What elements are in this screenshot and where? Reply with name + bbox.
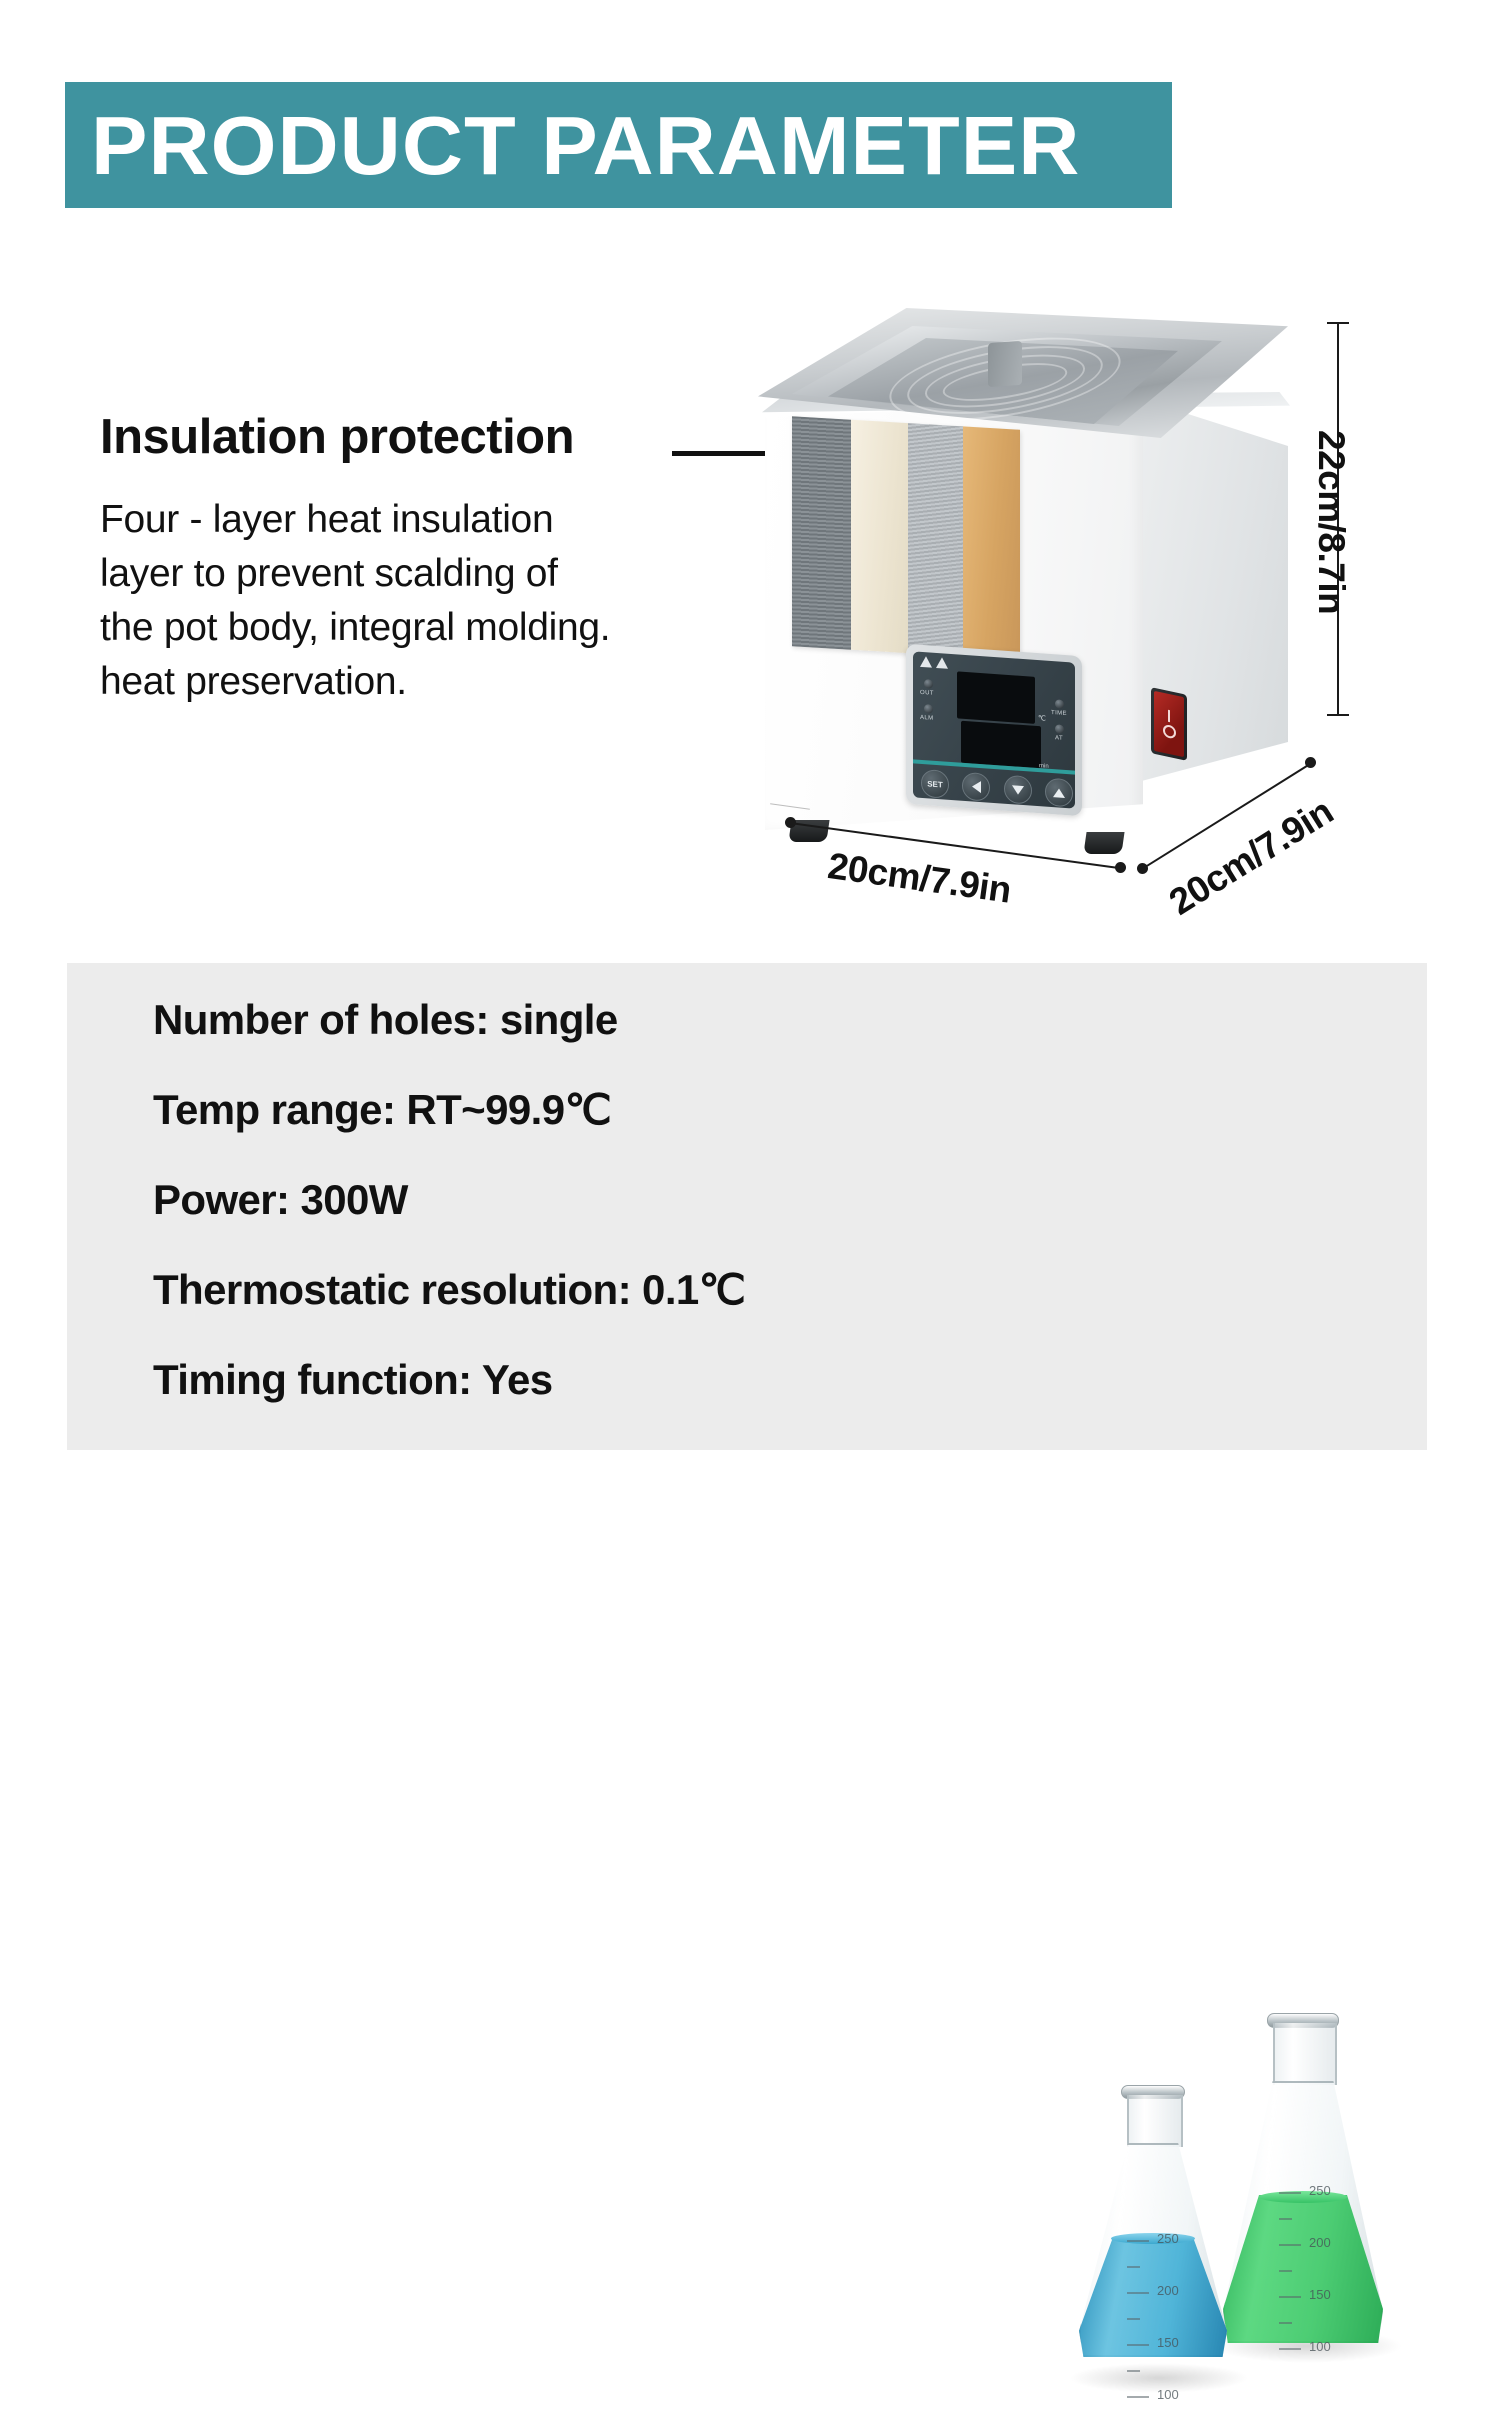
spec-item-resolution: Thermostatic resolution: 0.1℃ [153, 1269, 973, 1311]
callout-line-2: layer to prevent scalding of [100, 547, 760, 601]
callout-line-1: Four - layer heat insulation [100, 493, 760, 547]
out-led-indicator [924, 679, 933, 689]
time-led-indicator [1055, 699, 1064, 709]
graduation-tick [1127, 2370, 1140, 2372]
power-switch[interactable] [1151, 687, 1187, 761]
graduation-tick [1279, 2270, 1292, 2272]
arrow-up-icon [1053, 788, 1065, 798]
specifications-panel: Number of holes: single Temp range: RT~9… [67, 963, 1427, 1450]
height-dimension-label: 22cm/8.7in [1310, 430, 1352, 614]
insulation-callout: Insulation protection Four - layer heat … [100, 412, 760, 709]
temperature-display [957, 671, 1035, 723]
graduation-tick [1127, 2396, 1149, 2398]
graduation-label: 150 [1157, 2335, 1179, 2350]
page-title: PRODUCT PARAMETER [91, 104, 1080, 187]
flask-liquid-surface [1259, 2191, 1347, 2203]
flask-illustration: 250 200 150 100 250 200 150 10 [1067, 1993, 1407, 2393]
control-panel-face: OUT ALM TIME AT ℃ min SET WATER BATH [913, 651, 1075, 808]
panel-button-row: SET [921, 769, 1073, 808]
callout-heading: Insulation protection [100, 412, 760, 463]
depth-dimension-dot-end [1305, 757, 1316, 768]
left-arrow-button[interactable] [962, 772, 990, 802]
graduation-tick [1279, 2192, 1301, 2194]
green-flask: 250 200 150 100 [1217, 2009, 1389, 2369]
graduation-label: 250 [1309, 2183, 1331, 2198]
specifications-list: Number of holes: single Temp range: RT~9… [153, 999, 973, 1449]
power-on-mark-icon [1168, 710, 1170, 722]
graduation-tick [1127, 2344, 1149, 2346]
insulation-layer-2 [851, 420, 908, 653]
time-led-label: TIME [1051, 710, 1067, 717]
arrow-left-icon [972, 780, 981, 793]
warning-triangle-icon [920, 656, 932, 668]
graduation-tick [1127, 2240, 1149, 2242]
control-panel[interactable]: OUT ALM TIME AT ℃ min SET WATER BATH [906, 644, 1082, 816]
flask-liquid-surface [1111, 2233, 1195, 2244]
power-off-mark-icon [1163, 724, 1176, 740]
alm-led-label: ALM [920, 715, 934, 722]
graduation-tick [1127, 2292, 1149, 2294]
graduation-label: 250 [1157, 2231, 1179, 2246]
graduation-tick [1279, 2322, 1292, 2324]
spec-item-power: Power: 300W [153, 1179, 973, 1221]
warning-triangle-icon [936, 657, 948, 669]
height-dimension-cap-bottom [1327, 714, 1349, 716]
flask-neck [1127, 2095, 1183, 2147]
warning-icons [920, 656, 948, 669]
insulation-layer-4 [963, 426, 1020, 659]
graduation-tick [1127, 2266, 1140, 2268]
insulation-layer-3 [908, 423, 963, 656]
spec-item-temp-range: Temp range: RT~99.9℃ [153, 1089, 973, 1131]
blue-flask: 250 200 150 100 [1075, 2081, 1235, 2381]
graduation-tick [1279, 2296, 1301, 2298]
timer-display [961, 721, 1041, 769]
header-banner: PRODUCT PARAMETER [65, 82, 1172, 208]
lid-knob [988, 341, 1022, 387]
graduation-tick [1279, 2244, 1301, 2246]
depth-dimension-dot-start [1137, 863, 1148, 874]
callout-line-3: the pot body, integral molding. [100, 601, 760, 655]
set-button[interactable]: SET [921, 769, 949, 799]
width-dimension-dot-end [1115, 862, 1126, 873]
flask-neck [1273, 2023, 1337, 2085]
graduation-label: 200 [1309, 2235, 1331, 2250]
graduation-label: 100 [1309, 2339, 1331, 2354]
callout-line-4: heat preservation. [100, 655, 760, 709]
graduation-tick [1279, 2348, 1301, 2350]
out-led-label: OUT [920, 690, 934, 697]
height-dimension-cap-top [1327, 322, 1349, 324]
alm-led-indicator [924, 704, 933, 714]
graduation-tick [1127, 2318, 1140, 2320]
width-dimension-dot-start [785, 817, 796, 828]
product-image: OUT ALM TIME AT ℃ min SET WATER BATH [740, 280, 1360, 900]
spec-item-timing: Timing function: Yes [153, 1359, 973, 1401]
at-led-indicator [1055, 724, 1064, 734]
down-arrow-button[interactable] [1004, 775, 1032, 805]
graduation-label: 150 [1309, 2287, 1331, 2302]
insulation-cutaway [792, 416, 1020, 660]
graduation-tick [1279, 2218, 1292, 2220]
spec-item-holes: Number of holes: single [153, 999, 973, 1041]
up-arrow-button[interactable] [1045, 778, 1073, 808]
at-led-label: AT [1055, 735, 1063, 742]
graduation-label: 200 [1157, 2283, 1179, 2298]
power-switch-face [1154, 691, 1184, 757]
insulation-layer-1 [792, 416, 851, 650]
arrow-down-icon [1012, 785, 1024, 795]
graduation-label: 100 [1157, 2387, 1179, 2402]
celsius-unit-label: ℃ [1038, 714, 1046, 723]
rubber-foot [1083, 832, 1124, 854]
